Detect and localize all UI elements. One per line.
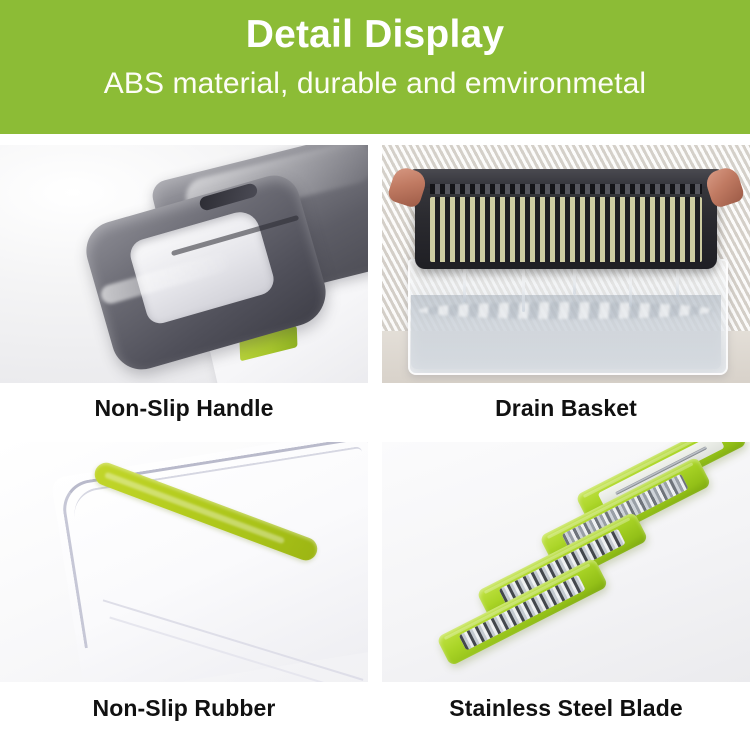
water-drip-shape bbox=[676, 269, 679, 298]
detail-panel-stainless-steel-blade: Stainless Steel Blade bbox=[375, 434, 750, 734]
page-subtitle: ABS material, durable and emvironmetal bbox=[104, 64, 646, 104]
detail-panel-grid: Non-Slip Handle Drain Basket bbox=[0, 134, 750, 734]
product-photo-stainless-steel-blade bbox=[382, 442, 750, 682]
header-banner: Detail Display ABS material, durable and… bbox=[0, 0, 750, 134]
basket-slot-row-top bbox=[430, 184, 702, 194]
product-photo-drain-basket bbox=[382, 145, 750, 383]
product-photo-non-slip-handle bbox=[0, 145, 368, 383]
water-drip-shape bbox=[522, 269, 525, 312]
basket-slots-shape bbox=[430, 197, 702, 261]
detail-panel-non-slip-handle: Non-Slip Handle bbox=[0, 134, 375, 434]
water-drip-shape bbox=[629, 269, 632, 307]
water-ripple-shape bbox=[419, 302, 713, 319]
water-drip-shape bbox=[573, 269, 576, 295]
water-drip-shape bbox=[463, 269, 466, 302]
caption-non-slip-rubber: Non-Slip Rubber bbox=[0, 682, 368, 734]
caption-non-slip-handle: Non-Slip Handle bbox=[0, 383, 368, 434]
detail-panel-drain-basket: Drain Basket bbox=[375, 134, 750, 434]
caption-drain-basket: Drain Basket bbox=[382, 383, 750, 434]
page-title: Detail Display bbox=[246, 12, 505, 58]
detail-panel-non-slip-rubber: Non-Slip Rubber bbox=[0, 434, 375, 734]
product-photo-non-slip-rubber bbox=[0, 442, 368, 682]
caption-stainless-steel-blade: Stainless Steel Blade bbox=[382, 682, 750, 734]
